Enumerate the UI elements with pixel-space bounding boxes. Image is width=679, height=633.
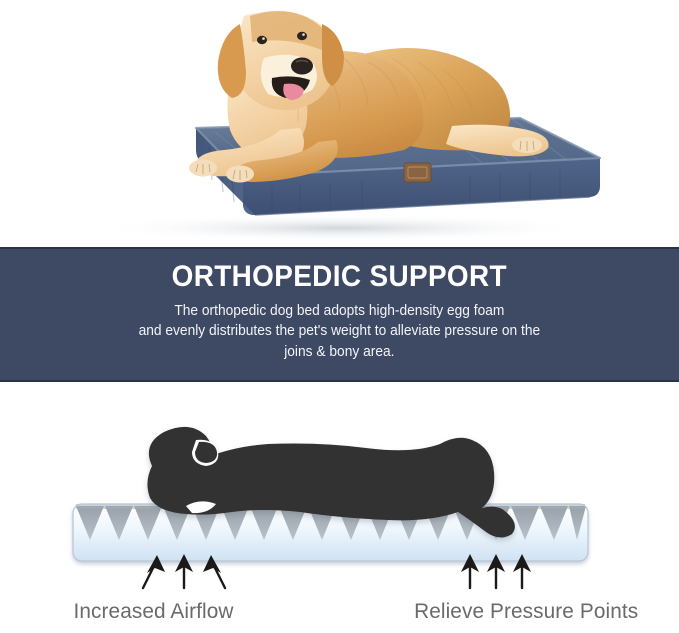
product-photo-image (0, 0, 679, 247)
pressure-arrow-group (470, 564, 522, 588)
banner-subtitle-line-3: joins & bony area. (139, 342, 541, 363)
orthopedic-support-banner: ORTHOPEDIC SUPPORT The orthopedic dog be… (0, 247, 679, 382)
increased-airflow-label: Increased Airflow (2, 600, 353, 624)
dog-ear-left (218, 24, 246, 98)
bed-logo-patch (404, 163, 431, 182)
dog-eye-left (257, 36, 267, 44)
dog-eye-right-glint (302, 33, 305, 36)
banner-subtitle-line-2: and evenly distributes the pet's weight … (139, 321, 541, 342)
banner-subtitle: The orthopedic dog bed adopts high-densi… (139, 301, 541, 363)
diagram-label-row: Increased Airflow Relieve Pressure Point… (0, 600, 679, 624)
foam-diagram-illustration (0, 382, 679, 633)
banner-title: ORTHOPEDIC SUPPORT (172, 261, 507, 293)
relieve-pressure-points-label: Relieve Pressure Points (356, 600, 677, 624)
banner-subtitle-line-1: The orthopedic dog bed adopts high-densi… (139, 301, 541, 322)
dog-eye-left-glint (262, 37, 265, 40)
product-photo-panel (0, 0, 679, 247)
bed-ground-shadow (90, 214, 590, 242)
dog-eye-right (297, 32, 307, 40)
foam-diagram-panel: Increased Airflow Relieve Pressure Point… (0, 382, 679, 633)
